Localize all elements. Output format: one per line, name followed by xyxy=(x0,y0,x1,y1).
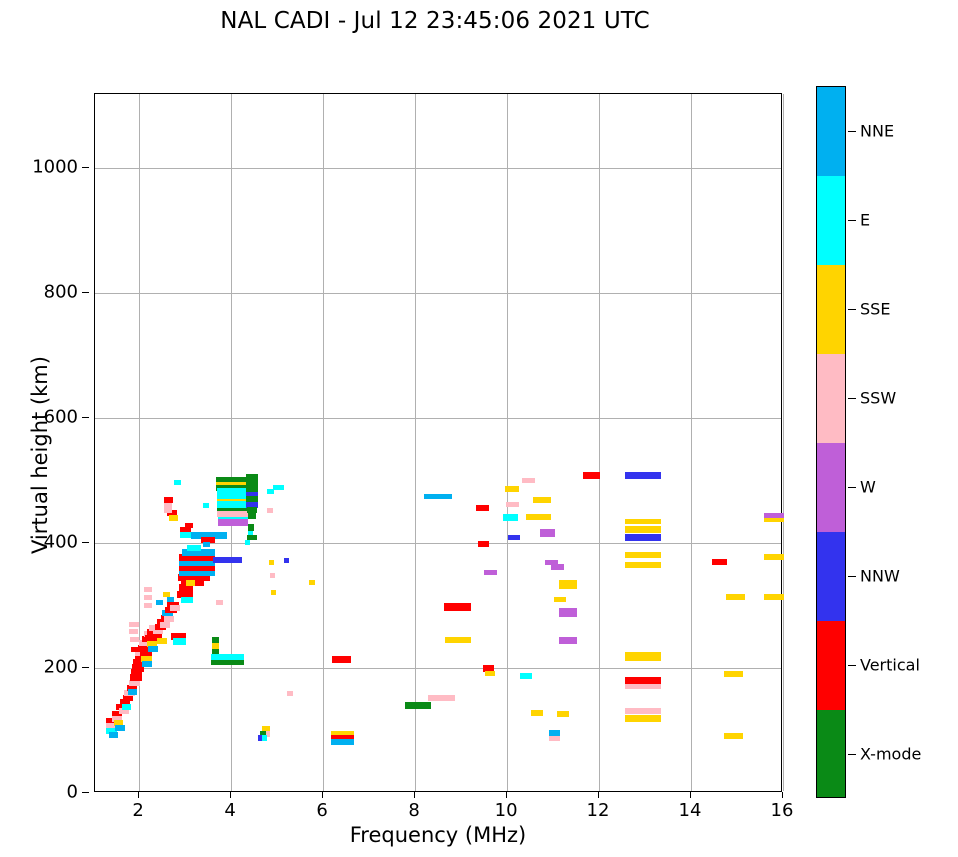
echo-mark xyxy=(557,711,569,717)
echo-mark xyxy=(144,587,152,592)
echo-mark xyxy=(115,725,125,731)
colorbar-segment-w xyxy=(817,443,845,533)
x-axis-tick xyxy=(230,792,231,798)
y-axis-label: Virtual height (km) xyxy=(28,285,52,625)
echo-mark xyxy=(309,580,315,585)
echo-mark xyxy=(287,691,293,696)
echo-mark xyxy=(625,552,661,558)
echo-mark xyxy=(424,494,452,499)
y-axis-tick-label: 1000 xyxy=(32,156,78,177)
echo-mark xyxy=(625,684,661,689)
x-axis-tick-label: 6 xyxy=(316,800,327,821)
echo-mark xyxy=(144,603,152,608)
y-axis-tick xyxy=(82,292,89,293)
colorbar xyxy=(816,86,846,798)
echo-mark xyxy=(625,519,661,524)
echo-mark xyxy=(180,532,191,538)
echo-mark xyxy=(269,560,275,565)
echo-mark xyxy=(169,515,178,521)
y-axis-tick-label: 200 xyxy=(44,657,78,678)
colorbar-segment-nne xyxy=(817,87,845,177)
colorbar-segment-sse xyxy=(817,265,845,355)
echo-mark xyxy=(625,715,661,722)
echo-mark xyxy=(173,638,187,645)
colorbar-tick xyxy=(848,220,856,221)
gridline-vertical xyxy=(783,94,784,791)
echo-mark xyxy=(531,710,543,716)
x-axis-tick-label: 8 xyxy=(408,800,419,821)
echo-mark xyxy=(129,680,140,686)
echo-mark xyxy=(625,708,661,714)
echo-mark xyxy=(142,661,152,667)
echo-mark xyxy=(262,735,268,741)
x-axis-tick xyxy=(138,792,139,798)
echo-mark xyxy=(625,534,661,541)
echo-mark xyxy=(270,573,276,578)
y-axis-tick xyxy=(82,417,89,418)
echo-mark xyxy=(405,702,432,709)
echo-mark xyxy=(559,608,577,617)
colorbar-label-nnw: NNW xyxy=(860,566,900,585)
y-axis-tick xyxy=(82,542,89,543)
echo-mark xyxy=(203,542,210,547)
echo-mark xyxy=(583,472,601,479)
echo-mark xyxy=(211,654,244,660)
colorbar-label-ssw: SSW xyxy=(860,388,896,407)
echo-mark xyxy=(724,671,743,677)
echo-mark xyxy=(170,605,180,611)
echo-mark xyxy=(203,503,209,508)
echo-mark xyxy=(185,523,193,528)
x-axis-tick-label: 10 xyxy=(495,800,518,821)
colorbar-tick xyxy=(848,754,856,755)
echo-mark xyxy=(181,597,194,603)
echo-mark xyxy=(331,739,354,745)
colorbar-label-e: E xyxy=(860,210,870,229)
echo-mark xyxy=(764,554,784,560)
y-axis-tick xyxy=(82,667,89,668)
x-axis-tick xyxy=(690,792,691,798)
echo-mark xyxy=(625,526,661,533)
echo-mark xyxy=(476,505,489,511)
echo-mark xyxy=(508,535,520,540)
colorbar-tick xyxy=(848,576,856,577)
echo-mark xyxy=(724,733,743,739)
echo-mark xyxy=(160,622,170,628)
echo-mark xyxy=(130,637,138,642)
echo-mark xyxy=(559,580,577,589)
x-axis-tick-label: 2 xyxy=(132,800,143,821)
echo-mark xyxy=(213,557,242,563)
echo-mark xyxy=(503,514,518,521)
colorbar-segment-ssw xyxy=(817,354,845,444)
x-axis-tick-label: 12 xyxy=(587,800,610,821)
echo-mark xyxy=(506,502,520,507)
echo-mark xyxy=(187,545,201,551)
echo-mark xyxy=(712,559,728,565)
colorbar-segment-nnw xyxy=(817,532,845,622)
echo-mark xyxy=(167,597,174,602)
echo-mark xyxy=(484,570,497,575)
colorbar-label-w: W xyxy=(860,477,876,496)
echo-mark xyxy=(218,519,248,526)
echo-mark xyxy=(128,689,137,695)
echo-mark xyxy=(148,646,158,652)
echo-mark xyxy=(332,656,350,663)
page-title: NAL CADI - Jul 12 23:45:06 2021 UTC xyxy=(0,8,870,34)
echo-mark xyxy=(273,485,284,490)
x-axis-tick xyxy=(322,792,323,798)
colorbar-label-sse: SSE xyxy=(860,299,890,318)
colorbar-tick xyxy=(848,665,856,666)
echo-mark xyxy=(164,508,172,513)
x-axis-tick-label: 4 xyxy=(224,800,235,821)
echo-mark xyxy=(559,637,577,644)
echo-mark xyxy=(156,600,163,605)
colorbar-segment-x-mode xyxy=(817,710,845,798)
x-axis-tick-label: 16 xyxy=(771,800,794,821)
echo-mark xyxy=(144,595,152,600)
echo-mark xyxy=(726,594,745,600)
echo-mark xyxy=(186,580,195,586)
echo-mark xyxy=(174,480,181,485)
echo-mark xyxy=(122,704,131,710)
echo-mark xyxy=(535,514,552,520)
x-axis-tick xyxy=(598,792,599,798)
echo-mark xyxy=(485,671,495,676)
echo-mark xyxy=(428,695,455,701)
echo-mark xyxy=(505,486,519,492)
x-axis-tick xyxy=(414,792,415,798)
y-axis-tick xyxy=(82,792,89,793)
y-axis-tick xyxy=(82,167,89,168)
echo-mark xyxy=(129,629,138,634)
echo-mark xyxy=(216,600,223,605)
echo-mark xyxy=(445,637,471,643)
colorbar-tick xyxy=(848,131,856,132)
echo-mark xyxy=(764,594,784,600)
echo-mark xyxy=(625,562,661,568)
echo-mark xyxy=(520,673,532,679)
ionogram-figure: NAL CADI - Jul 12 23:45:06 2021 UTC 2468… xyxy=(0,0,958,857)
x-axis-tick xyxy=(506,792,507,798)
echo-mark xyxy=(267,508,273,513)
echo-mark xyxy=(444,603,472,611)
y-axis-tick-label: 0 xyxy=(67,782,78,803)
echo-mark xyxy=(478,541,489,547)
echo-mark xyxy=(248,513,256,519)
x-axis-label: Frequency (MHz) xyxy=(94,823,782,847)
plot-area xyxy=(94,93,782,792)
colorbar-tick xyxy=(848,398,856,399)
echo-mark xyxy=(540,529,556,537)
colorbar-label-nne: NNE xyxy=(860,121,894,140)
colorbar-label-x-mode: X-mode xyxy=(860,744,921,763)
echo-mark xyxy=(271,590,277,595)
echo-mark xyxy=(549,736,560,741)
colorbar-label-vertical: Vertical xyxy=(860,655,920,674)
echo-mark xyxy=(625,652,661,661)
echo-mark xyxy=(764,513,784,518)
echo-mark xyxy=(245,540,250,545)
colorbar-segment-e xyxy=(817,176,845,266)
echo-data-layer xyxy=(95,94,781,791)
echo-mark xyxy=(554,597,566,602)
echo-mark xyxy=(129,622,139,627)
x-axis-tick-label: 14 xyxy=(679,800,702,821)
colorbar-segment-vertical xyxy=(817,621,845,711)
colorbar-tick xyxy=(848,309,856,310)
echo-mark xyxy=(164,616,174,622)
x-axis-tick xyxy=(782,792,783,798)
colorbar-tick xyxy=(848,487,856,488)
echo-mark xyxy=(533,497,551,503)
echo-mark xyxy=(625,472,661,479)
echo-mark xyxy=(109,732,118,738)
echo-mark xyxy=(522,478,535,483)
echo-mark xyxy=(284,558,290,563)
echo-mark xyxy=(157,638,167,644)
echo-mark xyxy=(551,564,564,570)
